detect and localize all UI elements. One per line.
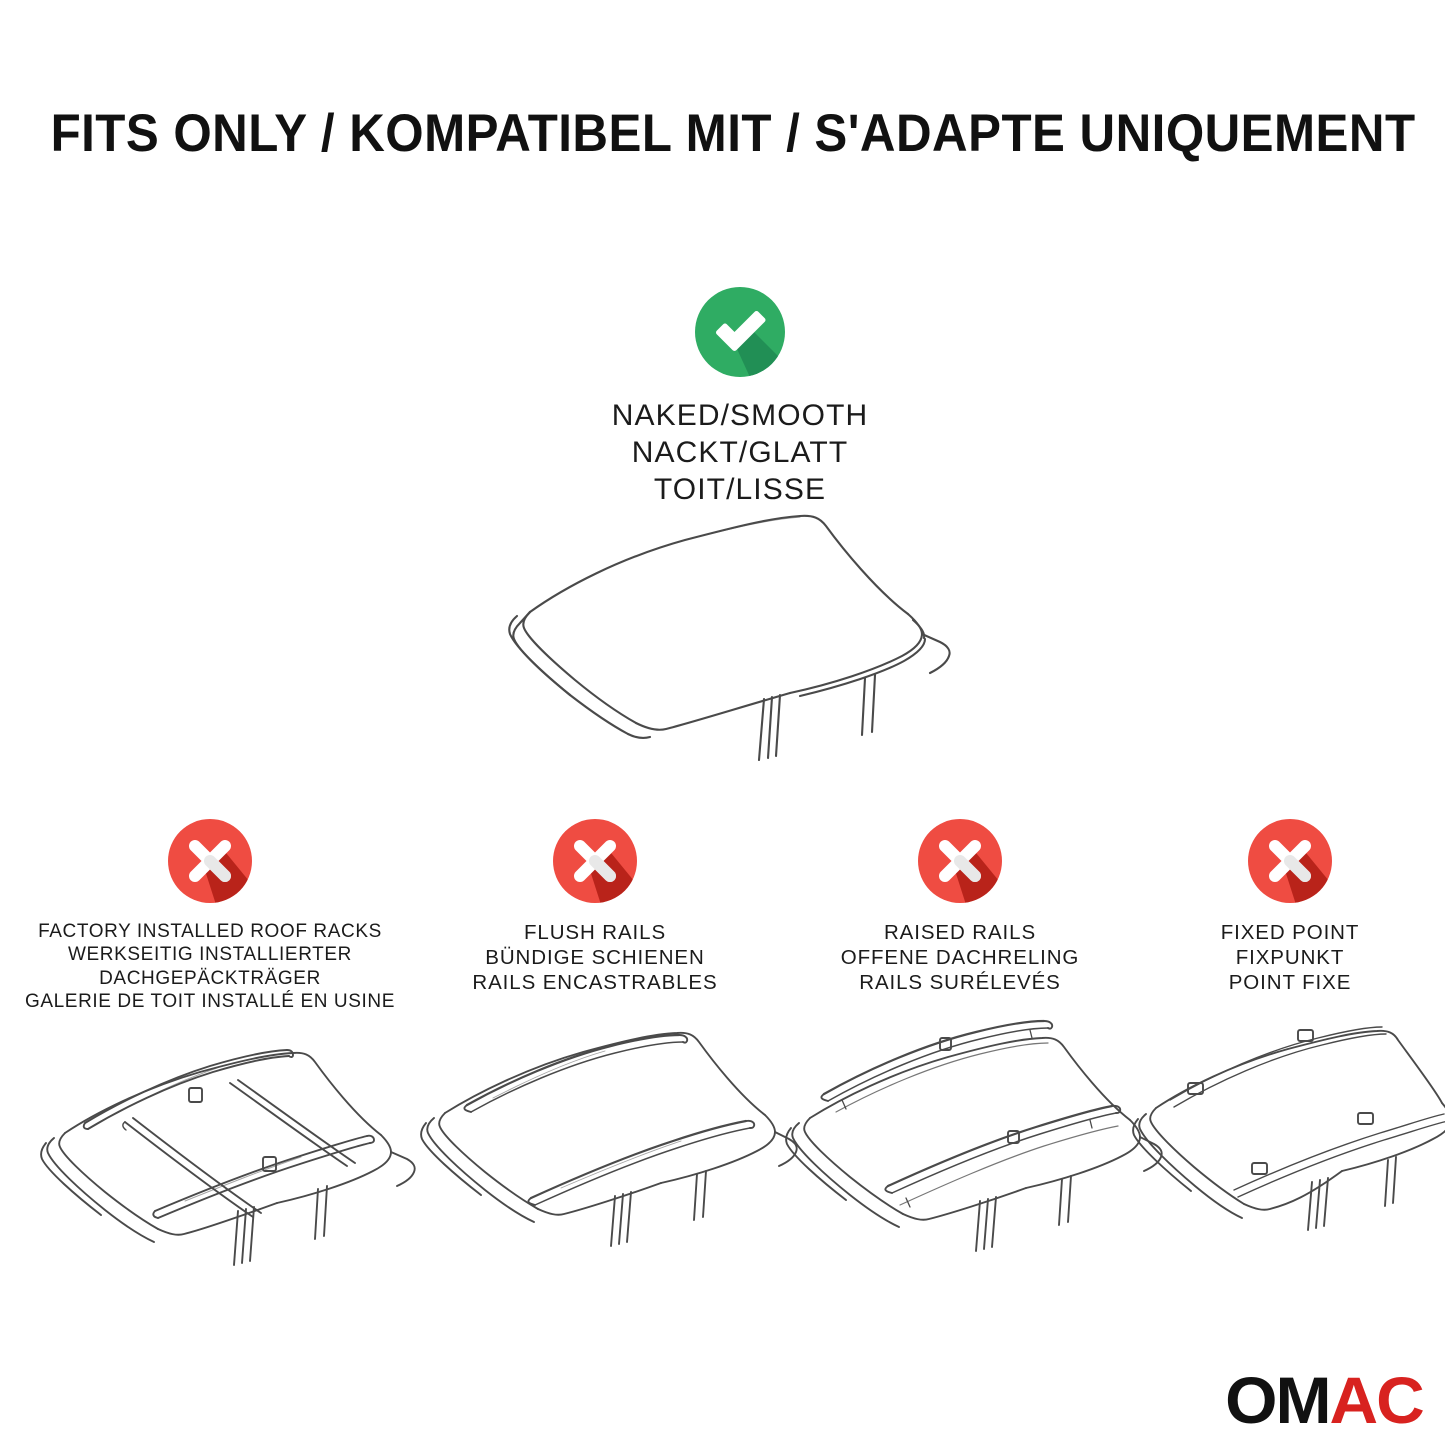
car-roof-factory-rack-illustration <box>10 1025 410 1255</box>
label-line-en: RAISED RAILS <box>780 920 1140 945</box>
label-line-en: FACTORY INSTALLED ROOF RACKS <box>10 920 410 943</box>
logo-text-om: OM <box>1225 1363 1329 1437</box>
incompatible-label-factory-racks: FACTORY INSTALLED ROOF RACKS WERKSEITIG … <box>10 920 410 1013</box>
incompatible-column-factory-racks: FACTORY INSTALLED ROOF RACKS WERKSEITIG … <box>10 818 410 1255</box>
label-line-de-1: WERKSEITIG INSTALLIERTER <box>10 943 410 966</box>
cross-badge-wrapper <box>10 818 410 920</box>
cross-circle-icon <box>552 818 638 904</box>
check-circle-icon <box>694 286 786 378</box>
cross-circle-icon <box>917 818 1003 904</box>
page-title: FITS ONLY / KOMPATIBEL MIT / S'ADAPTE UN… <box>51 103 1395 164</box>
incompatible-column-fixed-point: FIXED POINT FIXPUNKT POINT FIXE <box>1140 818 1440 1238</box>
incompatible-columns: FACTORY INSTALLED ROOF RACKS WERKSEITIG … <box>0 818 1445 1248</box>
label-line-de: OFFENE DACHRELING <box>780 945 1140 970</box>
cross-badge-wrapper <box>415 818 775 920</box>
label-line-fr: POINT FIXE <box>1140 970 1440 995</box>
infographic-canvas: FITS ONLY / KOMPATIBEL MIT / S'ADAPTE UN… <box>0 0 1445 1445</box>
label-line-de: FIXPUNKT <box>1140 945 1440 970</box>
incompatible-label-flush-rails: FLUSH RAILS BÜNDIGE SCHIENEN RAILS ENCAS… <box>415 920 775 996</box>
label-line-de-2: DACHGEPÄCKTRÄGER <box>10 967 410 990</box>
label-line-de: BÜNDIGE SCHIENEN <box>415 945 775 970</box>
incompatible-column-flush-rails: FLUSH RAILS BÜNDIGE SCHIENEN RAILS ENCAS… <box>415 818 775 1238</box>
cross-circle-icon <box>1247 818 1333 904</box>
compatible-label-line-de: NACKT/GLATT <box>440 434 1040 471</box>
label-line-en: FIXED POINT <box>1140 920 1440 945</box>
label-line-en: FLUSH RAILS <box>415 920 775 945</box>
car-roof-raised-rails-illustration <box>780 1008 1140 1238</box>
cross-badge-wrapper <box>1140 818 1440 920</box>
omac-logo: OMAC <box>1225 1367 1423 1433</box>
incompatible-column-raised-rails: RAISED RAILS OFFENE DACHRELING RAILS SUR… <box>780 818 1140 1238</box>
car-roof-flush-rails-illustration <box>415 1008 775 1238</box>
cross-circle-icon <box>167 818 253 904</box>
check-badge-wrapper <box>440 283 1040 381</box>
incompatible-label-raised-rails: RAISED RAILS OFFENE DACHRELING RAILS SUR… <box>780 920 1140 996</box>
incompatible-label-fixed-point: FIXED POINT FIXPUNKT POINT FIXE <box>1140 920 1440 996</box>
car-roof-smooth-illustration <box>470 492 1010 762</box>
label-line-fr: RAILS ENCASTRABLES <box>415 970 775 995</box>
cross-badge-wrapper <box>780 818 1140 920</box>
compatible-label-line-en: NAKED/SMOOTH <box>440 397 1040 434</box>
car-roof-fixed-point-illustration <box>1140 1008 1440 1238</box>
label-line-fr: GALERIE DE TOIT INSTALLÉ EN USINE <box>10 990 410 1013</box>
compatible-block: NAKED/SMOOTH NACKT/GLATT TOIT/LISSE <box>440 283 1040 509</box>
label-line-fr: RAILS SURÉLEVÉS <box>780 970 1140 995</box>
logo-text-ac: AC <box>1330 1363 1423 1437</box>
